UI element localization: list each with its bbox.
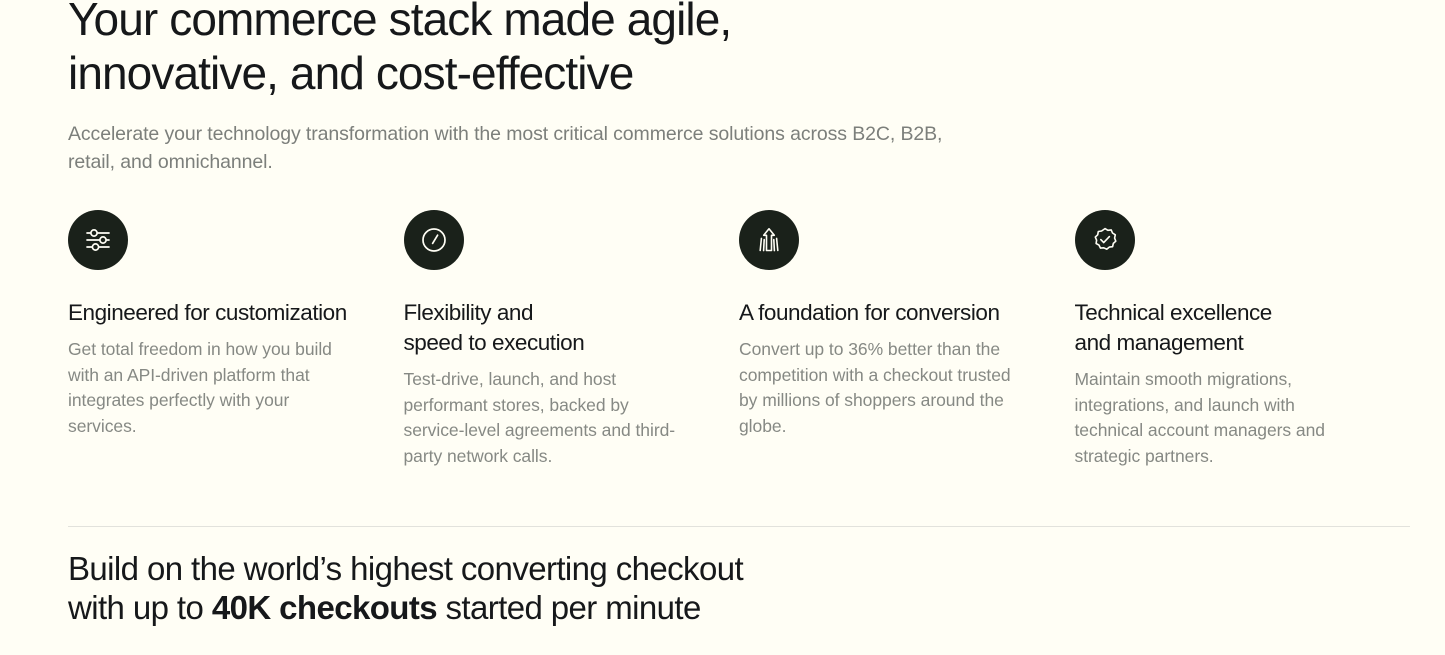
stat-highlight-value: 40K checkouts [212,589,437,626]
feature-card-conversion: A foundation for conversion Convert up t… [739,210,1075,469]
feature-title: Engineered for customization [68,298,359,328]
section-divider [68,526,1410,527]
hero-subtitle: Accelerate your technology transformatio… [68,120,958,176]
feature-card-customization: Engineered for customization Get total f… [68,210,404,469]
upward-arrow-growth-icon [739,210,799,270]
feature-list: Engineered for customization Get total f… [68,210,1410,469]
feature-body: Get total freedom in how you build with … [68,337,359,439]
feature-title: A foundation for conversion [739,298,1030,328]
feature-body: Test-drive, launch, and host performant … [404,367,695,469]
page-title: Your commerce stack made agile, innovati… [68,0,828,100]
feature-card-flexibility: Flexibility and speed to execution Test-… [404,210,740,469]
feature-title: Flexibility and speed to execution [404,298,695,358]
feature-body: Convert up to 36% better than the compet… [739,337,1030,439]
clock-speed-icon [404,210,464,270]
sliders-icon [68,210,128,270]
hero-section: Your commerce stack made agile, innovati… [68,0,1377,176]
stat-headline: Build on the world’s highest converting … [68,549,768,627]
feature-card-technical-excellence: Technical excellence and management Main… [1075,210,1411,469]
feature-body: Maintain smooth migrations, integrations… [1075,367,1366,469]
badge-check-icon [1075,210,1135,270]
feature-title: Technical excellence and management [1075,298,1366,358]
page-root: Your commerce stack made agile, innovati… [0,0,1445,647]
stat-trail-text: started per minute [437,589,701,626]
